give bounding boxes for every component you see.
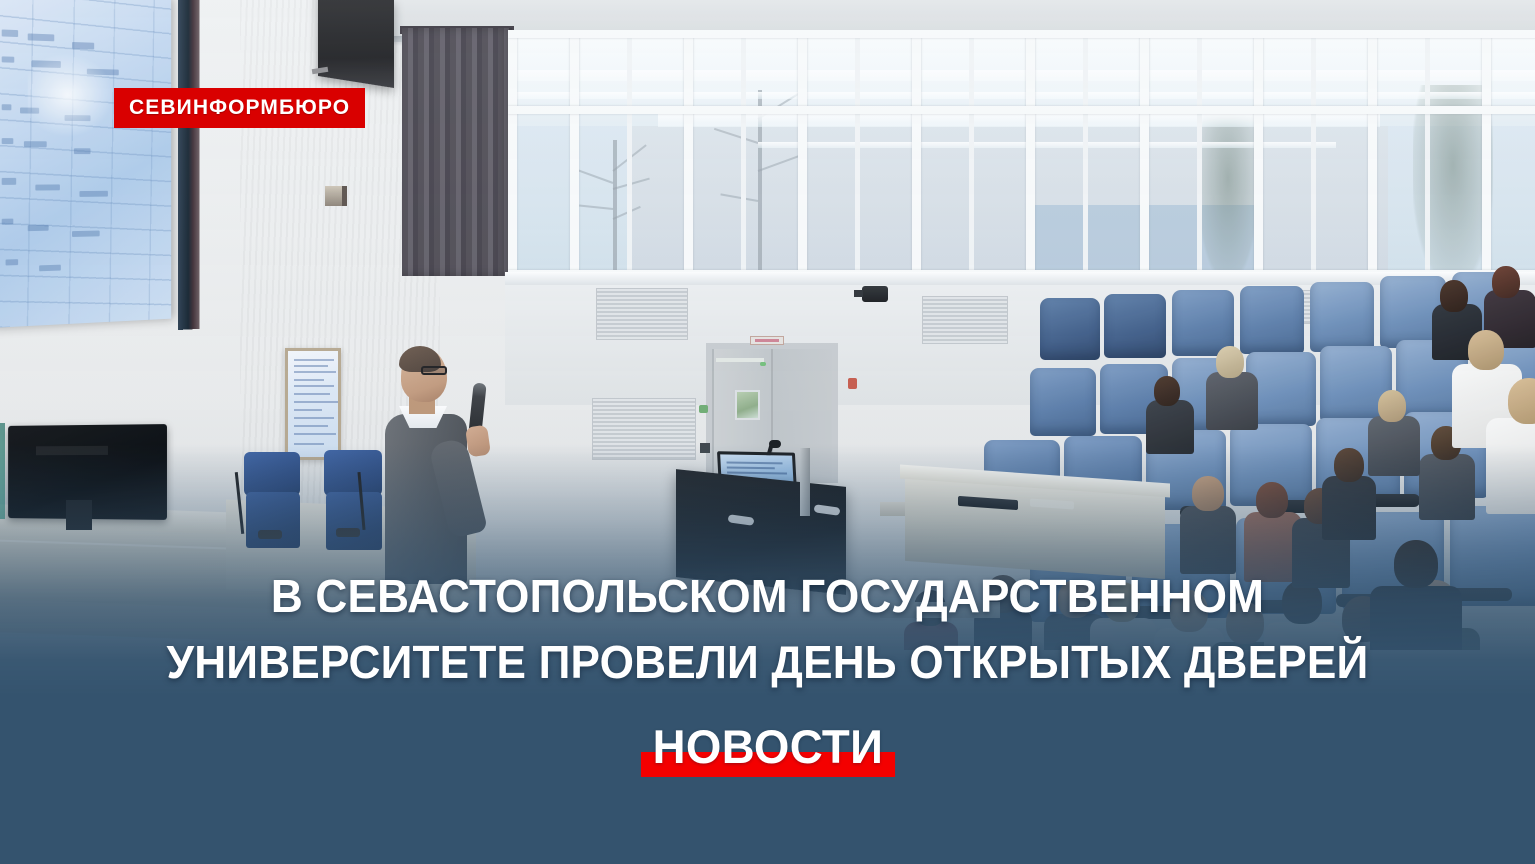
window-mullion [1254, 30, 1263, 280]
audience-body [1486, 418, 1535, 514]
window-wall [508, 30, 1535, 280]
audience-head [1192, 476, 1224, 511]
audience-head [1468, 330, 1504, 370]
category-label: НОВОСТИ [640, 718, 894, 776]
table-microphone-base [336, 528, 360, 537]
presenter-glasses-icon [421, 366, 447, 375]
stage-chair [244, 452, 300, 496]
stage-chair-seat [246, 492, 300, 548]
auditorium-seat [1104, 294, 1166, 358]
presenter-hand [465, 425, 491, 458]
led-video-wall [0, 0, 171, 328]
window-reflection [758, 142, 1336, 148]
category-label-wrap: НОВОСТИ [0, 718, 1535, 776]
window-mullion-thin [969, 30, 974, 280]
window-mullion [1368, 30, 1377, 280]
auditorium-seat [1030, 368, 1096, 436]
audience-body [1419, 454, 1475, 520]
table-microphone-base [258, 530, 282, 539]
window-mullion [570, 30, 579, 280]
headline-line-2: УНИВЕРСИТЕТЕ ПРОВЕЛИ ДЕНЬ ОТКРЫТЫХ ДВЕРЕ… [31, 629, 1505, 695]
audience-head [1154, 376, 1180, 406]
audience-head [1216, 346, 1244, 378]
window-mullion [684, 30, 693, 280]
auditorium-seat [1310, 282, 1374, 352]
stage-chair-seat [326, 492, 382, 550]
audience-body [1206, 372, 1258, 430]
lectern-pole [800, 448, 810, 516]
wall-camera-icon [325, 186, 347, 206]
door-window-pane [735, 390, 760, 420]
window-transom [508, 106, 1535, 114]
audience-head [1378, 390, 1406, 422]
fire-alarm-icon [848, 378, 857, 389]
wall-vent [592, 398, 696, 460]
monitor-stand [66, 500, 92, 530]
lectern-microphone-head [769, 440, 781, 448]
audience-head [1440, 280, 1468, 312]
headline-line-1: В СЕВАСТОПОЛЬСКОМ ГОСУДАРСТВЕННОМ [31, 563, 1505, 629]
stage-chair [324, 450, 382, 496]
auditorium-seat [1040, 298, 1100, 360]
window-mullion-thin [627, 30, 632, 280]
window-transom [508, 30, 1535, 38]
door-top-strip [716, 358, 764, 362]
window-mullion-thin [1311, 30, 1316, 280]
monitor-edge-glow [0, 423, 5, 519]
audience-body [1146, 400, 1194, 454]
window-mullion-thin [1197, 30, 1202, 280]
window-mullion-thin [855, 30, 860, 280]
led-wall-glare [28, 50, 116, 138]
wall-vent [596, 288, 688, 340]
window-reflection [508, 92, 1535, 99]
ceiling-speaker [318, 0, 394, 88]
audience-head [1334, 448, 1364, 482]
led-wall-edge [178, 0, 199, 330]
led-wall-cells [0, 0, 171, 328]
window-mullion [1482, 30, 1491, 280]
exit-sign [750, 336, 784, 345]
presenter [383, 348, 493, 583]
window-mullion [1026, 30, 1035, 280]
door-status-light [760, 362, 766, 366]
window-mullion-thin [1083, 30, 1088, 280]
bare-tree [568, 140, 658, 280]
wall-emergency-light-icon [699, 405, 708, 413]
audience-head [1508, 378, 1535, 424]
window-mullion-thin [1425, 30, 1430, 280]
headline: В СЕВАСТОПОЛЬСКОМ ГОСУДАРСТВЕННОМ УНИВЕР… [31, 563, 1505, 695]
window-mullion [798, 30, 807, 280]
broadcast-frame: СЕВИНФОРМБЮРО В СЕВАСТОПОЛЬСКОМ ГОСУДАРС… [0, 0, 1535, 864]
window-reflection [658, 114, 1380, 127]
channel-badge: СЕВИНФОРМБЮРО [114, 88, 365, 128]
audience-head [1256, 482, 1288, 518]
window-mullion [912, 30, 921, 280]
audience-head [1492, 266, 1520, 298]
audience-body [1368, 416, 1420, 476]
wall-mounted-display [285, 348, 341, 460]
window-curtain [402, 28, 512, 276]
window-mullion [1140, 30, 1149, 280]
auditorium-seat [1240, 286, 1304, 354]
category-label-text: НОВОСТИ [652, 720, 883, 773]
window-mullion [508, 30, 517, 280]
window-mullion-thin [741, 30, 746, 280]
wall-switch-icon [700, 443, 710, 453]
window-reflection [508, 70, 1535, 81]
audience-body [1322, 476, 1376, 540]
